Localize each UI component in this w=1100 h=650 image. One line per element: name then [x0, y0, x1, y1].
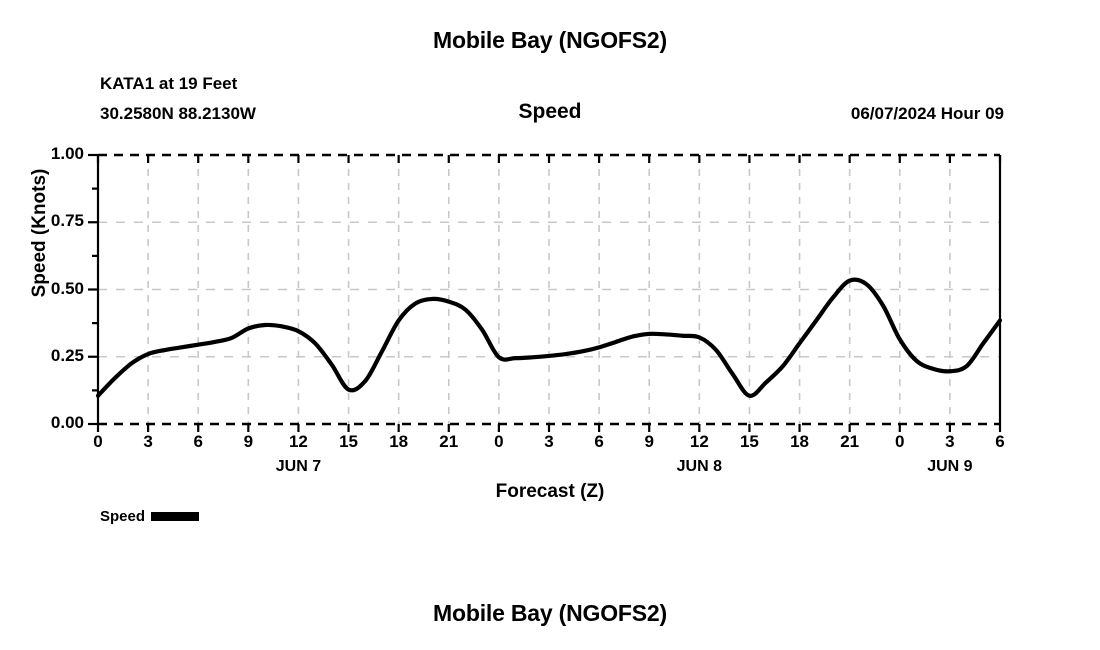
x-tick-label: 3 [128, 432, 168, 452]
page-footer-title: Mobile Bay (NGOFS2) [0, 600, 1100, 627]
page-title: Mobile Bay (NGOFS2) [0, 27, 1100, 54]
y-tick-label: 0.25 [28, 346, 84, 366]
axes-layer [98, 155, 1000, 424]
x-tick-label: 18 [780, 432, 820, 452]
x-axis-day-label: JUN 7 [238, 458, 358, 476]
x-tick-label: 12 [278, 432, 318, 452]
x-axis-day-label: JUN 8 [639, 458, 759, 476]
x-tick-label: 9 [629, 432, 669, 452]
x-tick-label: 3 [529, 432, 569, 452]
legend-label-speed: Speed [100, 508, 145, 525]
x-tick-label: 12 [679, 432, 719, 452]
x-tick-label: 0 [78, 432, 118, 452]
model-run-timestamp: 06/07/2024 Hour 09 [851, 104, 1004, 124]
y-tick-label: 0.00 [28, 413, 84, 433]
x-axis-label: Forecast (Z) [0, 481, 1100, 503]
x-tick-label: 21 [830, 432, 870, 452]
y-tick-label: 1.00 [28, 144, 84, 164]
x-tick-label: 6 [178, 432, 218, 452]
x-tick-label: 3 [930, 432, 970, 452]
speed-forecast-plot [0, 0, 1100, 650]
legend-swatch-speed [151, 512, 199, 521]
station-label: KATA1 at 19 Feet [100, 74, 237, 94]
x-tick-label: 0 [479, 432, 519, 452]
series-line-speed [98, 280, 1000, 396]
grid-layer [98, 155, 1000, 424]
chart-legend: Speed [100, 508, 199, 525]
tick-marks-layer [88, 155, 1000, 432]
x-tick-label: 6 [980, 432, 1020, 452]
x-tick-label: 9 [228, 432, 268, 452]
x-tick-label: 18 [379, 432, 419, 452]
x-tick-label: 15 [729, 432, 769, 452]
x-tick-label: 15 [329, 432, 369, 452]
x-tick-label: 6 [579, 432, 619, 452]
x-axis-day-label: JUN 9 [890, 458, 1010, 476]
x-tick-label: 21 [429, 432, 469, 452]
y-tick-label: 0.50 [28, 279, 84, 299]
data-series-layer [98, 280, 1000, 396]
x-tick-label: 0 [880, 432, 920, 452]
y-tick-label: 0.75 [28, 211, 84, 231]
